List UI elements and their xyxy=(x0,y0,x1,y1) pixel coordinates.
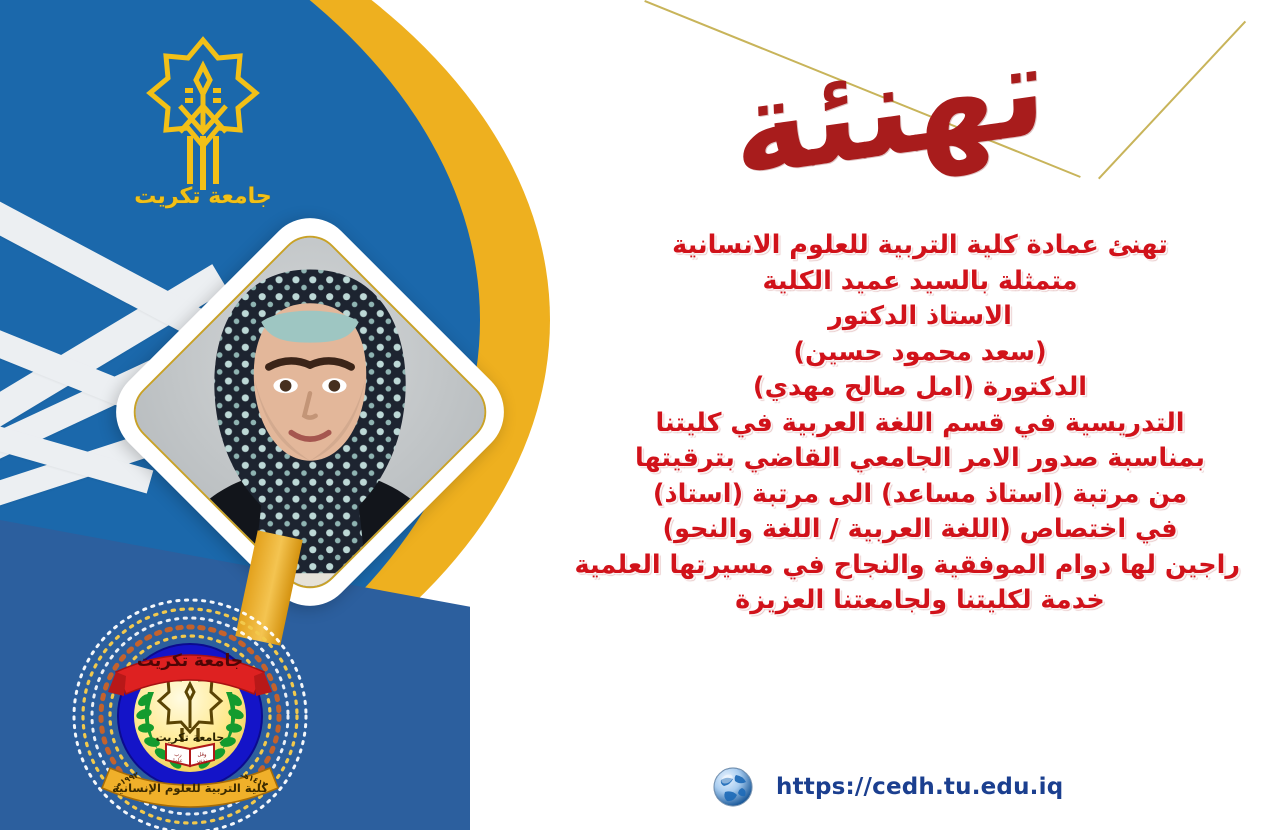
seal-top-banner-text: جامعة تكريت xyxy=(137,651,243,671)
seal-bottom-banner-text: كلية التربية للعلوم الإنسانية xyxy=(112,781,268,796)
congratulation-poster: جامعة تكريت xyxy=(0,0,1280,830)
body-line: متمثلة بالسيد عميد الكلية xyxy=(600,264,1240,300)
body-line: من مرتبة (استاذ مساعد) الى مرتبة (استاذ) xyxy=(600,477,1240,513)
body-line: بمناسبة صدور الامر الجامعي القاضي بترقيت… xyxy=(600,441,1240,477)
body-line: الاستاذ الدكتور xyxy=(600,299,1240,335)
body-line: (سعد محمود حسين) xyxy=(600,335,1240,371)
body-line: راجين لها دوام الموفقية والنجاح في مسيرت… xyxy=(600,548,1240,584)
body-line: تهنئ عمادة كلية التربية للعلوم الانسانية xyxy=(600,228,1240,264)
svg-text:جامعة تكريت: جامعة تكريت xyxy=(156,731,225,744)
footer-website: https://cedh.tu.edu.iq xyxy=(712,766,1063,808)
body-line: خدمة لكليتنا ولجامعتنا العزيزة xyxy=(600,583,1240,619)
body-line: في اختصاص (اللغة العربية / اللغة والنحو) xyxy=(600,512,1240,548)
svg-text:علما: علما xyxy=(173,758,182,764)
university-logo-caption: جامعة تكريت xyxy=(128,184,278,209)
svg-text:زدني: زدني xyxy=(197,758,208,764)
body-line: التدريسية في قسم اللغة العربية في كليتنا xyxy=(600,406,1240,442)
college-seal-icon: جامعة تكريت رب علما وقل زدني جامعة تكريت… xyxy=(70,596,310,830)
tikrit-university-logo: جامعة تكريت xyxy=(128,32,278,207)
college-seal: جامعة تكريت رب علما وقل زدني جامعة تكريت… xyxy=(70,596,310,830)
congratulation-body-text: تهنئ عمادة كلية التربية للعلوم الانسانية… xyxy=(600,228,1240,619)
website-url[interactable]: https://cedh.tu.edu.iq xyxy=(776,774,1063,800)
university-emblem-icon xyxy=(128,32,278,207)
globe-icon xyxy=(712,766,754,808)
body-line: الدكتورة (امل صالح مهدي) xyxy=(600,370,1240,406)
